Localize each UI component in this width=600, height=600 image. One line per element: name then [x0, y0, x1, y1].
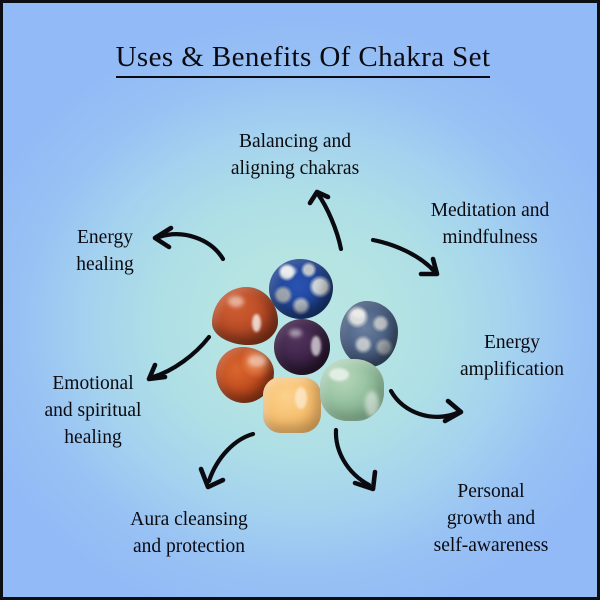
benefit-label-meditation: Meditation and mindfulness — [395, 198, 585, 252]
benefit-label-aura-cleansing: Aura cleansing and protection — [91, 507, 287, 561]
arrow-to-balancing — [301, 189, 349, 251]
stone-amethyst — [274, 319, 330, 375]
page-title-text: Uses & Benefits Of Chakra Set — [116, 41, 491, 78]
benefit-label-energy-healing: Energy healing — [31, 225, 179, 279]
chakra-stone-cluster — [206, 253, 402, 437]
infographic-canvas: Uses & Benefits Of Chakra Set — [0, 0, 600, 600]
benefit-label-energy-amplification: Energy amplification — [431, 330, 593, 384]
stone-sodalite — [340, 301, 398, 367]
stone-red-jasper — [212, 287, 278, 345]
stone-yellow-calcite — [263, 377, 321, 433]
benefit-label-emotional-spiritual: Emotional and spiritual healing — [13, 371, 173, 452]
stone-lapis-lazuli — [269, 259, 333, 319]
benefit-label-personal-growth: Personal growth and self-awareness — [393, 479, 589, 560]
stone-green-aventurine — [320, 359, 384, 421]
benefit-label-balancing: Balancing and aligning chakras — [189, 129, 401, 183]
page-title: Uses & Benefits Of Chakra Set — [3, 41, 600, 74]
arrow-to-aura-cleansing — [199, 431, 257, 493]
